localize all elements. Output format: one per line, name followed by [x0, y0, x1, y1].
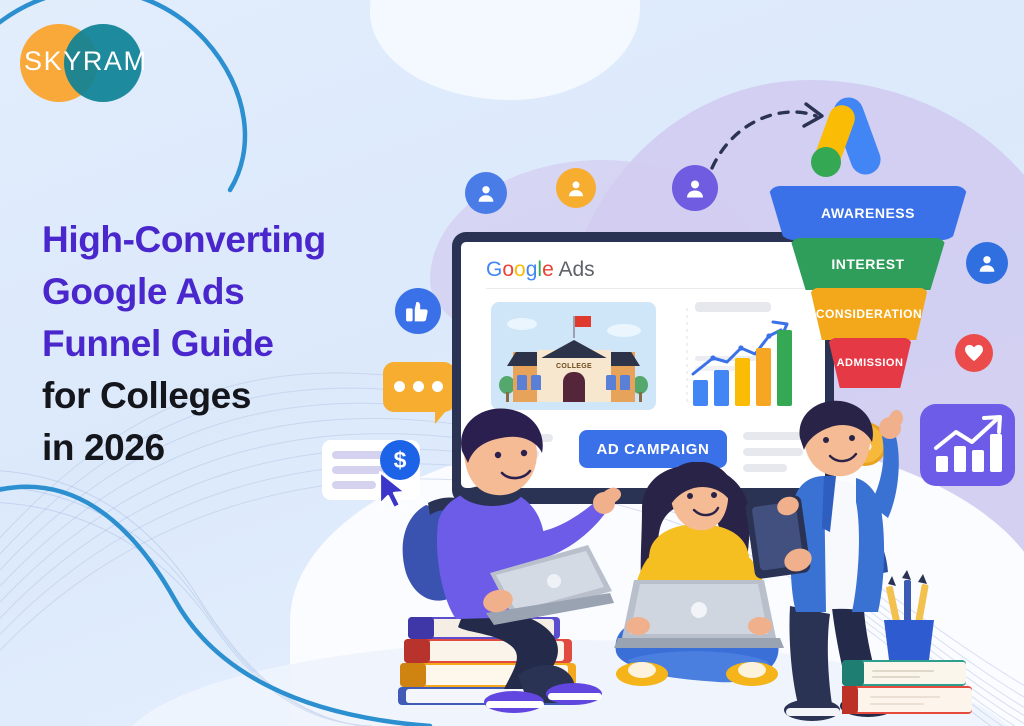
- conversion-funnel: AWARENESS INTEREST CONSIDERATION ADMISSI…: [760, 186, 980, 406]
- card-line: [332, 481, 376, 489]
- chat-bubble-dots: [394, 381, 443, 392]
- avatar-icon: [556, 168, 596, 208]
- brand-logo[interactable]: SKYRAM: [12, 10, 172, 110]
- funnel-stage-awareness: AWARENESS: [768, 186, 968, 240]
- chart-bar: [693, 380, 708, 406]
- growth-chart-icon: [920, 404, 1015, 486]
- thumbs-up-icon: [395, 288, 441, 334]
- headline-line-1: High-Converting: [42, 214, 462, 266]
- college-building-label: COLLEGE: [539, 363, 609, 370]
- ads-word: Ads: [558, 258, 594, 281]
- poster-canvas: SKYRAM High-Converting Google Ads Funnel…: [0, 0, 1024, 726]
- heart-icon: [955, 334, 993, 372]
- funnel-stage-consideration: CONSIDERATION: [810, 288, 928, 340]
- flag-icon: [573, 316, 575, 338]
- pencil-cup-icon: [884, 570, 934, 660]
- funnel-stage-admission: ADMISSION: [828, 338, 912, 388]
- card-line: [332, 451, 386, 459]
- google-ads-wordmark: Google Ads: [486, 258, 595, 282]
- chart-bar: [714, 370, 729, 406]
- google-ads-logo-icon: [800, 90, 910, 180]
- funnel-stage-interest: INTEREST: [790, 238, 946, 290]
- screen-divider: [486, 288, 806, 289]
- background-blob-white-top: [370, 0, 640, 100]
- book-stack-right: [842, 556, 1024, 726]
- college-image: COLLEGE: [491, 302, 656, 410]
- avatar-icon: [672, 165, 718, 211]
- google-word: Google: [486, 258, 558, 281]
- logo-text: SKYRAM: [24, 46, 164, 77]
- avatar-icon: [465, 172, 507, 214]
